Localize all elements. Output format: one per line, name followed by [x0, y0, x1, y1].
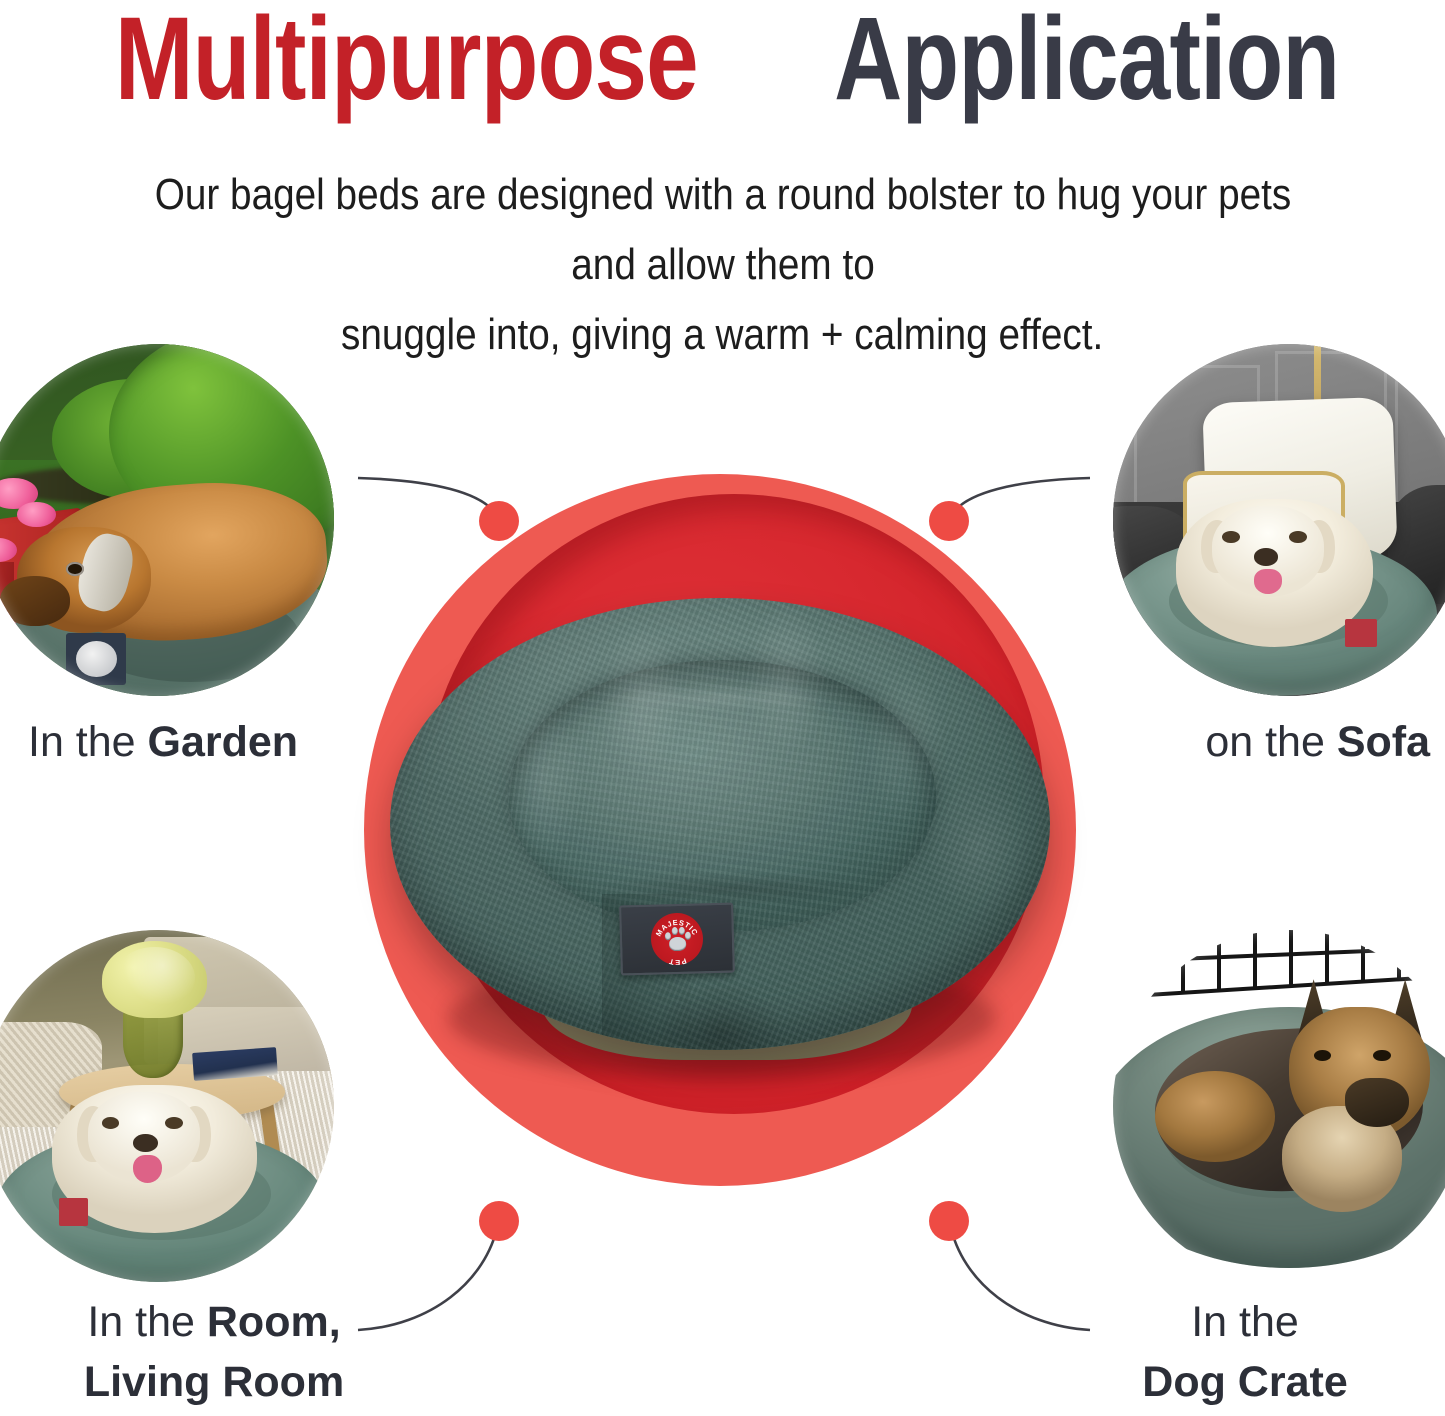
- caption-garden-bold: Garden: [148, 718, 299, 766]
- callout-dot-garden: [479, 501, 519, 541]
- infographic-canvas: MultipurposeApplication Our bagel beds a…: [0, 0, 1445, 1416]
- connector-line-garden: [358, 478, 498, 518]
- caption-dog-crate-bold-2: Dog Crate: [1142, 1358, 1347, 1406]
- caption-living-room: In the Room, Living Room: [14, 1292, 414, 1412]
- caption-sofa-bold: Sofa: [1337, 718, 1430, 766]
- dog-on-sofa-photo: [1113, 344, 1445, 696]
- dog-in-garden-photo: [0, 344, 334, 696]
- callout-dot-sofa: [929, 501, 969, 541]
- connector-line-sofa: [950, 478, 1090, 518]
- callout-dot-dog-crate: [929, 1201, 969, 1241]
- callout-dot-living-room: [479, 1201, 519, 1241]
- caption-sofa: on the Sofa: [1040, 712, 1430, 772]
- dog-in-living-room-photo: [0, 930, 334, 1282]
- dog-in-crate-photo: [1113, 930, 1445, 1282]
- caption-living-room-bold-2: Living Room: [84, 1358, 344, 1406]
- caption-garden-regular: In the: [28, 718, 148, 766]
- caption-sofa-regular: on the: [1205, 718, 1337, 766]
- caption-living-room-bold: Room,: [207, 1298, 341, 1346]
- caption-dog-crate: In the Dog Crate: [1045, 1292, 1445, 1412]
- caption-living-room-regular: In the: [87, 1298, 207, 1346]
- caption-garden: In the Garden: [28, 712, 408, 772]
- caption-dog-crate-regular: In the: [1191, 1298, 1299, 1346]
